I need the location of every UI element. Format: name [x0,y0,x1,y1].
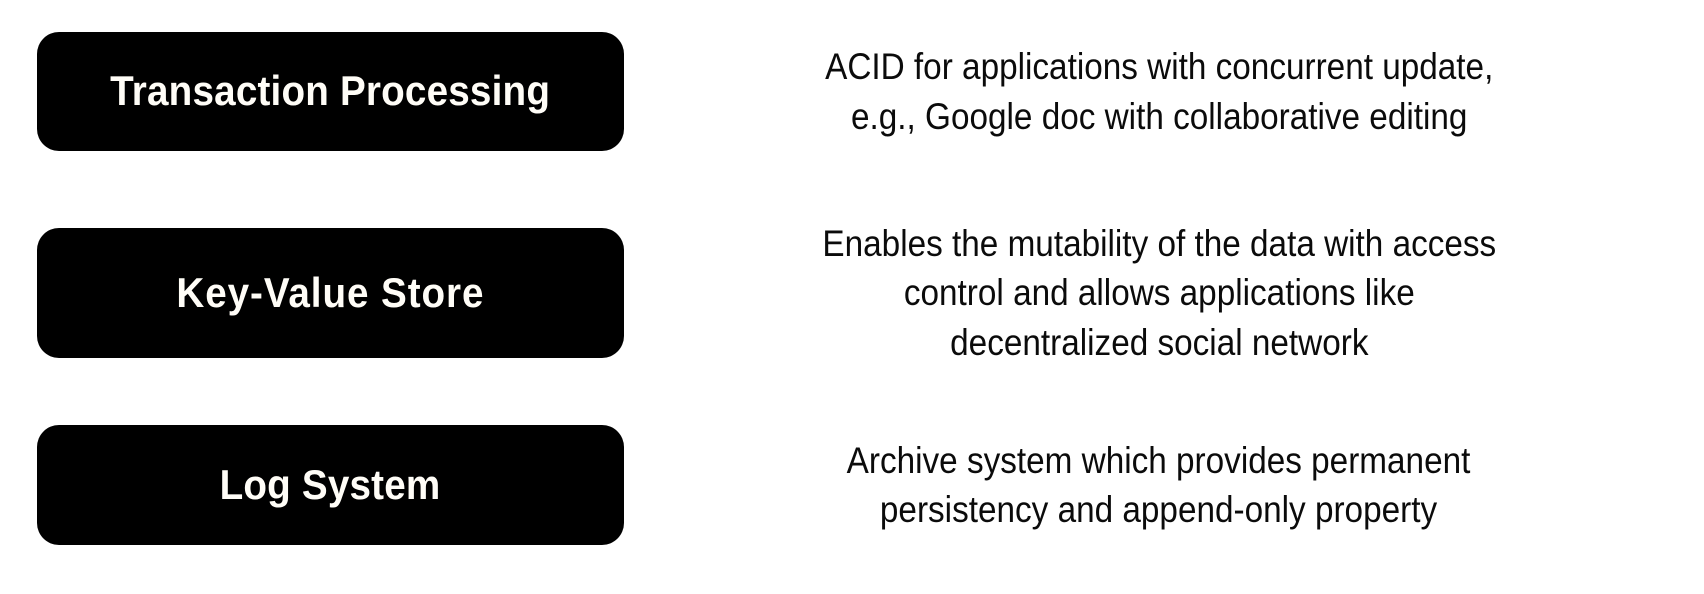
diagram-row-transaction-processing: Transaction Processing ACID for applicat… [0,32,1704,151]
box-column: Transaction Processing [0,32,624,151]
diagram-row-log-system: Log System Archive system which provides… [0,425,1704,545]
description-key-value-store: Enables the mutability of the data with … [822,219,1496,367]
description-column: ACID for applications with concurrent up… [624,32,1704,151]
description-column: Enables the mutability of the data with … [624,228,1704,358]
node-box-key-value-store[interactable]: Key-Value Store [37,228,624,358]
diagram-row-key-value-store: Key-Value Store Enables the mutability o… [0,228,1704,358]
box-column: Log System [0,425,624,545]
node-label-transaction-processing: Transaction Processing [111,69,551,113]
description-log-system: Archive system which provides permanent … [847,436,1471,534]
diagram-slide: Transaction Processing ACID for applicat… [0,0,1704,594]
description-column: Archive system which provides permanent … [624,425,1704,545]
node-box-transaction-processing[interactable]: Transaction Processing [37,32,624,151]
node-box-log-system[interactable]: Log System [37,425,624,545]
box-column: Key-Value Store [0,228,624,358]
description-transaction-processing: ACID for applications with concurrent up… [825,42,1493,140]
node-label-key-value-store: Key-Value Store [176,271,484,315]
node-label-log-system: Log System [220,463,441,507]
